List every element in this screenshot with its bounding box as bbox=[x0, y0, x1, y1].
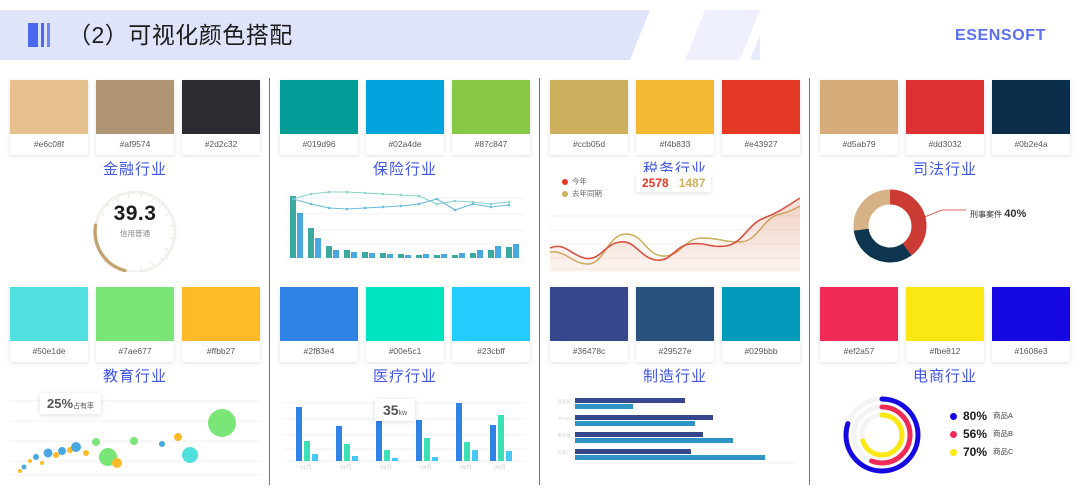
swatch-card[interactable]: #50e1de bbox=[10, 287, 88, 362]
medical-tooltip: 35kw bbox=[375, 399, 415, 421]
column-4: #d5ab79 #dd3032 #0b2e4a 司法行业 bbox=[810, 72, 1080, 487]
swatch-hex: #2f83e4 bbox=[280, 341, 358, 362]
swatch-hex: #87c847 bbox=[452, 134, 530, 155]
swatch-card[interactable]: #d5ab79 bbox=[820, 80, 898, 155]
svg-text:05月: 05月 bbox=[460, 464, 472, 471]
chart-manufacturing-hbar: 液晶屏 PCBA 电子器 包装厂 bbox=[550, 387, 800, 479]
swatch-color bbox=[96, 80, 174, 134]
hbar-cat-label: 液晶屏 bbox=[557, 398, 571, 405]
education-tooltip: 25%占有率 bbox=[40, 393, 101, 414]
swatch-hex: #29527e bbox=[636, 341, 714, 362]
swatch-color bbox=[550, 287, 628, 341]
swatch-hex: #ffbb27 bbox=[182, 341, 260, 362]
svg-text:01月: 01月 bbox=[300, 464, 312, 471]
legend-value: 70% bbox=[963, 443, 987, 461]
swatch-color bbox=[96, 287, 174, 341]
swatch-color bbox=[820, 80, 898, 134]
swatch-color bbox=[992, 80, 1070, 134]
swatch-row: #50e1de #7ae677 #ffbb27 bbox=[10, 287, 260, 362]
swatch-row: #e6c08f #af9574 #2d2c32 bbox=[10, 80, 260, 155]
swatch-hex: #fbe812 bbox=[906, 341, 984, 362]
swatch-card[interactable]: #ef2a57 bbox=[820, 287, 898, 362]
column-1: #e6c08f #af9574 #2d2c32 金融行业 bbox=[0, 72, 270, 487]
hbar-cat-label: PCBA bbox=[558, 416, 571, 421]
swatch-card[interactable]: #019d96 bbox=[280, 80, 358, 155]
swatch-row: #ccb05d #f4b833 #e43927 bbox=[550, 80, 800, 155]
swatch-hex: #ccb05d bbox=[550, 134, 628, 155]
legend-item: 70% 商品C bbox=[950, 443, 1013, 461]
legend-dot-icon bbox=[950, 413, 957, 420]
swatch-card[interactable]: #ccb05d bbox=[550, 80, 628, 155]
swatch-card[interactable]: #00e5c1 bbox=[366, 287, 444, 362]
industry-title-education: 教育行业 bbox=[0, 365, 270, 386]
swatch-card[interactable]: #dd3032 bbox=[906, 80, 984, 155]
panel-judicial: #d5ab79 #dd3032 #0b2e4a 司法行业 bbox=[810, 72, 1080, 279]
swatch-row: #019d96 #02a4de #87c847 bbox=[280, 80, 530, 155]
slide-page: （2）可视化颜色搭配 ESENSOFT #e6c08f #af9574 bbox=[0, 0, 1080, 491]
chart-medical-bar: 01月02月03月 04月05月06月 35kw bbox=[280, 387, 530, 479]
svg-text:03月: 03月 bbox=[380, 464, 392, 471]
legend-label: 商品C bbox=[993, 443, 1013, 461]
education-tooltip-value: 25% bbox=[47, 396, 73, 411]
swatch-hex: #ef2a57 bbox=[820, 341, 898, 362]
swatch-hex: #e6c08f bbox=[10, 134, 88, 155]
judicial-callout-label: 刑事案件 bbox=[970, 210, 1002, 219]
hbar-cat-label: 电子器 bbox=[557, 432, 571, 439]
swatch-color bbox=[906, 80, 984, 134]
swatch-row: #36478c #29527e #029bbb bbox=[550, 287, 800, 362]
page-title: （2）可视化颜色搭配 bbox=[68, 21, 293, 49]
swatch-card[interactable]: #0b2e4a bbox=[992, 80, 1070, 155]
swatch-card[interactable]: #02a4de bbox=[366, 80, 444, 155]
swatch-card[interactable]: #87c847 bbox=[452, 80, 530, 155]
swatch-card[interactable]: #1608e3 bbox=[992, 287, 1070, 362]
swatch-card[interactable]: #36478c bbox=[550, 287, 628, 362]
gauge-value: 39.3 bbox=[10, 202, 260, 226]
swatch-color bbox=[722, 287, 800, 341]
panel-tax: #ccb05d #f4b833 #e43927 税务行业 bbox=[540, 72, 810, 279]
swatch-color bbox=[366, 80, 444, 134]
industry-title-judicial: 司法行业 bbox=[810, 158, 1080, 179]
swatch-card[interactable]: #29527e bbox=[636, 287, 714, 362]
ecommerce-legend: 80% 商品A 56% 商品B 70% 商品C bbox=[950, 407, 1013, 461]
swatch-card[interactable]: #7ae677 bbox=[96, 287, 174, 362]
industry-title-finance: 金融行业 bbox=[0, 158, 270, 179]
industry-title-medical: 医疗行业 bbox=[270, 365, 540, 386]
legend-label: 商品B bbox=[993, 425, 1013, 443]
slide-header: （2）可视化颜色搭配 ESENSOFT bbox=[0, 10, 1080, 60]
chart-ecommerce-rings: 80% 商品A 56% 商品B 70% 商品C bbox=[820, 387, 1070, 485]
brand-logo: ESENSOFT bbox=[955, 27, 1046, 45]
swatch-color bbox=[280, 287, 358, 341]
svg-text:04月: 04月 bbox=[420, 464, 432, 471]
swatch-row: #d5ab79 #dd3032 #0b2e4a bbox=[820, 80, 1070, 155]
swatch-card[interactable]: #af9574 bbox=[96, 80, 174, 155]
judicial-callout-value: 40% bbox=[1004, 208, 1026, 220]
column-2: #019d96 #02a4de #87c847 保险行业 bbox=[270, 72, 540, 487]
swatch-color bbox=[636, 80, 714, 134]
swatch-color bbox=[280, 80, 358, 134]
swatch-card[interactable]: #f4b833 bbox=[636, 80, 714, 155]
chart-finance-gauge: 39.3 信用普通 bbox=[10, 180, 260, 272]
chart-insurance-combo bbox=[280, 180, 530, 272]
medical-tooltip-value: 35 bbox=[383, 402, 399, 418]
legend-item: 80% 商品A bbox=[950, 407, 1013, 425]
swatch-card[interactable]: #2d2c32 bbox=[182, 80, 260, 155]
chart-education-scatter: 25%占有率 bbox=[10, 387, 260, 479]
legend-label: 商品A bbox=[993, 407, 1013, 425]
header-bars-icon bbox=[28, 23, 50, 47]
swatch-hex: #36478c bbox=[550, 341, 628, 362]
panel-finance: #e6c08f #af9574 #2d2c32 金融行业 bbox=[0, 72, 270, 279]
svg-text:02月: 02月 bbox=[340, 464, 352, 471]
legend-item: 56% 商品B bbox=[950, 425, 1013, 443]
legend-value: 56% bbox=[963, 425, 987, 443]
swatch-color bbox=[10, 287, 88, 341]
column-3: #ccb05d #f4b833 #e43927 税务行业 bbox=[540, 72, 810, 487]
swatch-color bbox=[10, 80, 88, 134]
hbar-cat-label: 包装厂 bbox=[557, 449, 571, 456]
education-tooltip-label: 占有率 bbox=[73, 403, 94, 410]
swatch-color bbox=[182, 80, 260, 134]
swatch-color bbox=[550, 80, 628, 134]
swatch-row: #ef2a57 #fbe812 #1608e3 bbox=[820, 287, 1070, 362]
panel-grid: #e6c08f #af9574 #2d2c32 金融行业 bbox=[0, 72, 1080, 487]
swatch-color bbox=[452, 287, 530, 341]
swatch-color bbox=[366, 287, 444, 341]
swatch-color bbox=[182, 287, 260, 341]
chart-tax-area: 今年 去年同期 2578 1487 bbox=[550, 172, 800, 272]
panel-education: #50e1de #7ae677 #ffbb27 教育行业 bbox=[0, 279, 270, 486]
swatch-color bbox=[636, 287, 714, 341]
swatch-hex: #1608e3 bbox=[992, 341, 1070, 362]
judicial-callout: 刑事案件 40% bbox=[970, 208, 1026, 220]
gauge-value-label: 信用普通 bbox=[10, 228, 260, 239]
swatch-hex: #23cbff bbox=[452, 341, 530, 362]
industry-title-ecommerce: 电商行业 bbox=[810, 365, 1080, 386]
swatch-hex: #02a4de bbox=[366, 134, 444, 155]
legend-value: 80% bbox=[963, 407, 987, 425]
swatch-card[interactable]: #23cbff bbox=[452, 287, 530, 362]
swatch-hex: #dd3032 bbox=[906, 134, 984, 155]
legend-dot-icon bbox=[950, 431, 957, 438]
panel-insurance: #019d96 #02a4de #87c847 保险行业 bbox=[270, 72, 540, 279]
swatch-hex: #af9574 bbox=[96, 134, 174, 155]
swatch-hex: #0b2e4a bbox=[992, 134, 1070, 155]
swatch-hex: #00e5c1 bbox=[366, 341, 444, 362]
panel-medical: #2f83e4 #00e5c1 #23cbff 医疗行业 bbox=[270, 279, 540, 486]
swatch-card[interactable]: #e43927 bbox=[722, 80, 800, 155]
swatch-hex: #e43927 bbox=[722, 134, 800, 155]
chart-judicial-donut: 刑事案件 40% bbox=[820, 180, 1070, 272]
swatch-hex: #019d96 bbox=[280, 134, 358, 155]
swatch-color bbox=[722, 80, 800, 134]
industry-title-insurance: 保险行业 bbox=[270, 158, 540, 179]
swatch-hex: #d5ab79 bbox=[820, 134, 898, 155]
svg-text:06月: 06月 bbox=[494, 464, 506, 471]
swatch-color bbox=[820, 287, 898, 341]
swatch-card[interactable]: #2f83e4 bbox=[280, 287, 358, 362]
panel-manufacturing: #36478c #29527e #029bbb 制造行业 bbox=[540, 279, 810, 486]
swatch-hex: #50e1de bbox=[10, 341, 88, 362]
swatch-hex: #2d2c32 bbox=[182, 134, 260, 155]
industry-title-manufacturing: 制造行业 bbox=[540, 365, 810, 386]
legend-dot-icon bbox=[950, 449, 957, 456]
swatch-hex: #f4b833 bbox=[636, 134, 714, 155]
swatch-card[interactable]: #fbe812 bbox=[906, 287, 984, 362]
swatch-color bbox=[906, 287, 984, 341]
swatch-card[interactable]: #ffbb27 bbox=[182, 287, 260, 362]
swatch-hex: #029bbb bbox=[722, 341, 800, 362]
swatch-color bbox=[992, 287, 1070, 341]
swatch-hex: #7ae677 bbox=[96, 341, 174, 362]
swatch-row: #2f83e4 #00e5c1 #23cbff bbox=[280, 287, 530, 362]
swatch-card[interactable]: #029bbb bbox=[722, 287, 800, 362]
medical-tooltip-unit: kw bbox=[399, 410, 408, 417]
panel-ecommerce: #ef2a57 #fbe812 #1608e3 电商行业 bbox=[810, 279, 1080, 486]
swatch-color bbox=[452, 80, 530, 134]
swatch-card[interactable]: #e6c08f bbox=[10, 80, 88, 155]
